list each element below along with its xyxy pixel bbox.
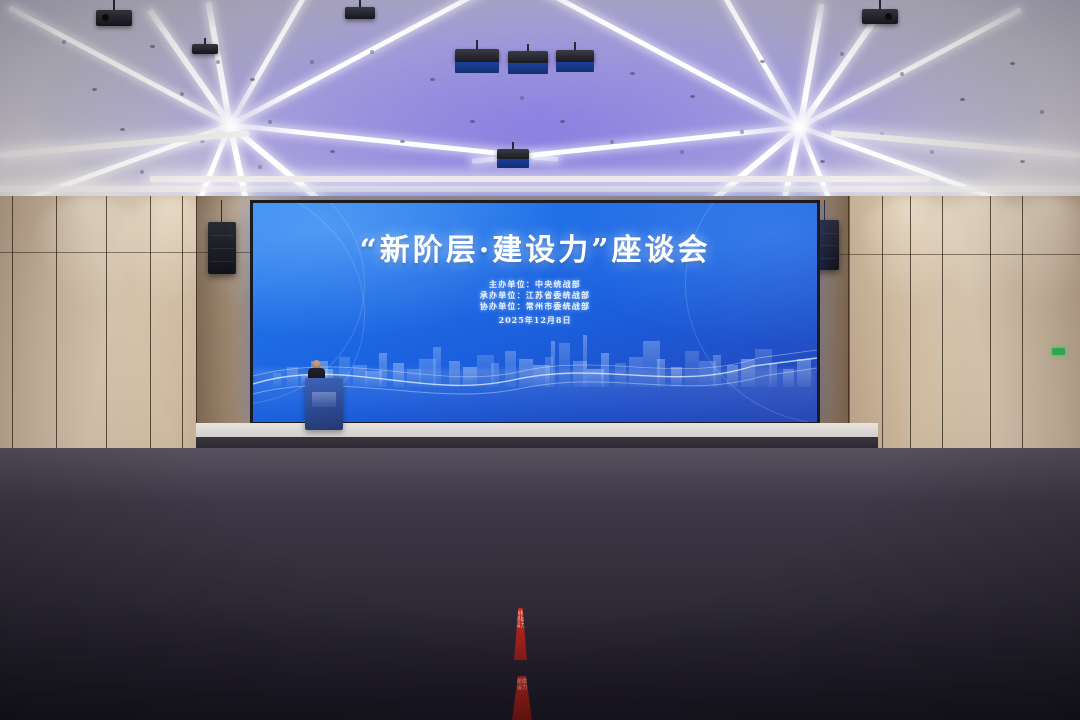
ceiling-downlight: [268, 120, 272, 124]
ceiling-downlight: [250, 78, 255, 81]
podium: [305, 378, 343, 430]
ceiling-downlight: [400, 140, 405, 143]
ceiling-downlight: [470, 120, 475, 123]
moving-light-low: [497, 142, 529, 172]
moving-light-left: [455, 40, 499, 80]
ceiling-downlight: [930, 150, 934, 154]
ceiling-downlight: [62, 40, 66, 44]
ceiling-downlight: [740, 130, 744, 134]
ceiling-downlight: [1020, 160, 1025, 163]
screen-subtitle: 主办单位：中央统战部 承办单位：江苏省委统战部 协办单位：常州市委统战部: [253, 279, 817, 312]
subtitle-line-2: 承办单位：江苏省委统战部: [253, 290, 817, 301]
ceiling-downlight: [120, 128, 125, 131]
projector-rig-left: [96, 0, 132, 34]
line-array-speaker-left: [208, 222, 236, 274]
subtitle-line-1: 主办单位：中央统战部: [253, 279, 817, 290]
ceiling-downlight: [1040, 110, 1044, 114]
ceiling-downlight: [840, 52, 844, 56]
ceiling-downlight: [1010, 62, 1015, 65]
ceiling-downlight: [92, 88, 97, 91]
projector-rig-right: [862, 0, 898, 32]
ceiling-downlight: [140, 170, 144, 174]
ceiling-downlight: [258, 165, 262, 169]
ceiling-downlight: [330, 150, 335, 153]
ceiling-downlight: [310, 60, 314, 64]
ceiling-downlight: [630, 72, 635, 75]
ceiling: [0, 0, 1080, 210]
ceiling-downlight: [690, 95, 695, 98]
subtitle-line-3: 协办单位：常州市委统战部: [253, 301, 817, 312]
ceiling-downlight: [520, 96, 524, 100]
ceiling-downlight: [960, 98, 965, 101]
ceiling-downlight: [900, 72, 904, 76]
ceiling-downlight: [560, 120, 565, 123]
moving-light-center: [508, 44, 548, 84]
moving-light-right: [556, 42, 594, 80]
ceiling-downlight: [370, 50, 374, 54]
ceiling-downlight: [610, 140, 614, 144]
speaker-wire-right: [824, 200, 825, 222]
exit-sign-right: [1052, 348, 1065, 355]
ceiling-downlight: [820, 160, 825, 163]
ceiling-fixture-far-left: [192, 38, 218, 62]
ceiling-downlight: [430, 78, 435, 81]
ceiling-downlight: [180, 92, 184, 96]
ceiling-cove-front: [150, 176, 930, 182]
ceiling-band: [0, 186, 1080, 192]
ceiling-downlight: [680, 150, 684, 154]
audience-floor: 陈晓红李 勇杨 帆傅立东孙 杰南 畅方 毅王 宁: [0, 448, 1080, 720]
speaker-wire-left: [221, 200, 222, 224]
screen-text-block: “新阶层·建设力”座谈会 主办单位：中央统战部 承办单位：江苏省委统战部 协办单…: [253, 236, 817, 326]
ceiling-downlight: [760, 60, 765, 63]
conference-photo: “新阶层·建设力”座谈会 主办单位：中央统战部 承办单位：江苏省委统战部 协办单…: [0, 0, 1080, 720]
ceiling-fixture-mid-left: [345, 0, 375, 26]
screen-title: “新阶层·建设力”座谈会: [253, 236, 817, 266]
ceiling-downlight: [150, 45, 155, 48]
